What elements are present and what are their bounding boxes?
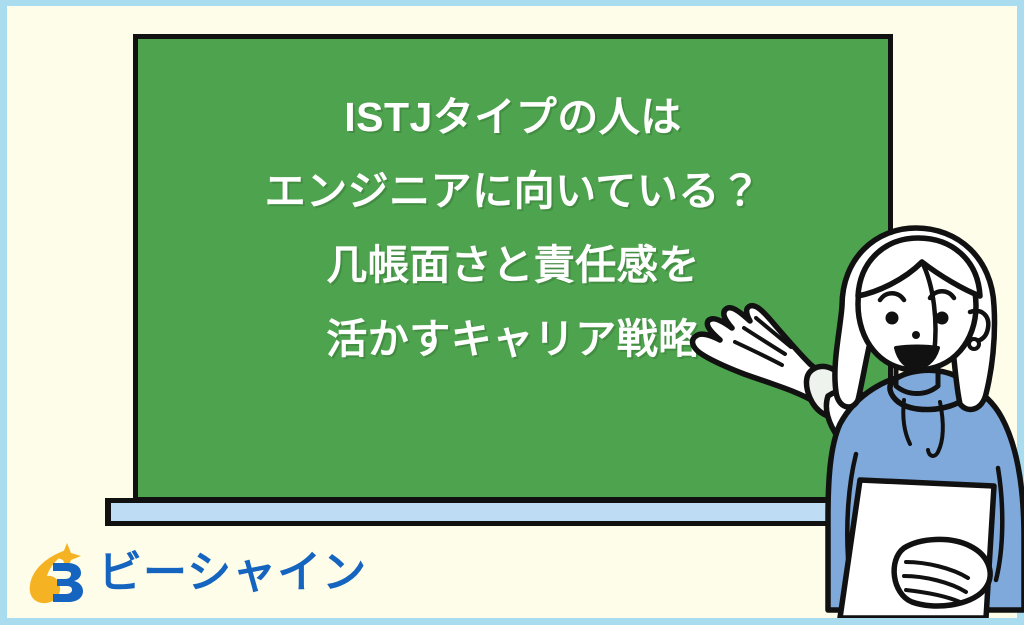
- logo-wordmark: ビーシャイン: [98, 551, 367, 595]
- border-strip-bottom: [0, 618, 1024, 625]
- title-line-2: エンジニアに向いている？: [133, 154, 893, 228]
- title-line-1: ISTJタイプの人は: [133, 80, 893, 154]
- thumbnail-canvas: ISTJタイプの人は エンジニアに向いている？ 几帳面さと責任感を 活かすキャリ…: [0, 0, 1024, 625]
- chalk-tray-inner: [111, 503, 889, 521]
- chalk-tray: [105, 498, 895, 526]
- brand-logo[interactable]: ビーシャイン: [26, 541, 367, 605]
- title-line-4: 活かすキャリア戦略: [133, 302, 893, 376]
- border-strip-top: [0, 0, 1024, 6]
- border-strip-left: [0, 0, 7, 625]
- title-line-3: 几帳面さと責任感を: [133, 228, 893, 302]
- b-shine-star-swoosh-logo-icon: [26, 541, 88, 605]
- blackboard-title: ISTJタイプの人は エンジニアに向いている？ 几帳面さと責任感を 活かすキャリ…: [133, 80, 893, 376]
- border-strip-right: [1017, 0, 1024, 625]
- blackboard: ISTJタイプの人は エンジニアに向いている？ 几帳面さと責任感を 活かすキャリ…: [133, 34, 893, 502]
